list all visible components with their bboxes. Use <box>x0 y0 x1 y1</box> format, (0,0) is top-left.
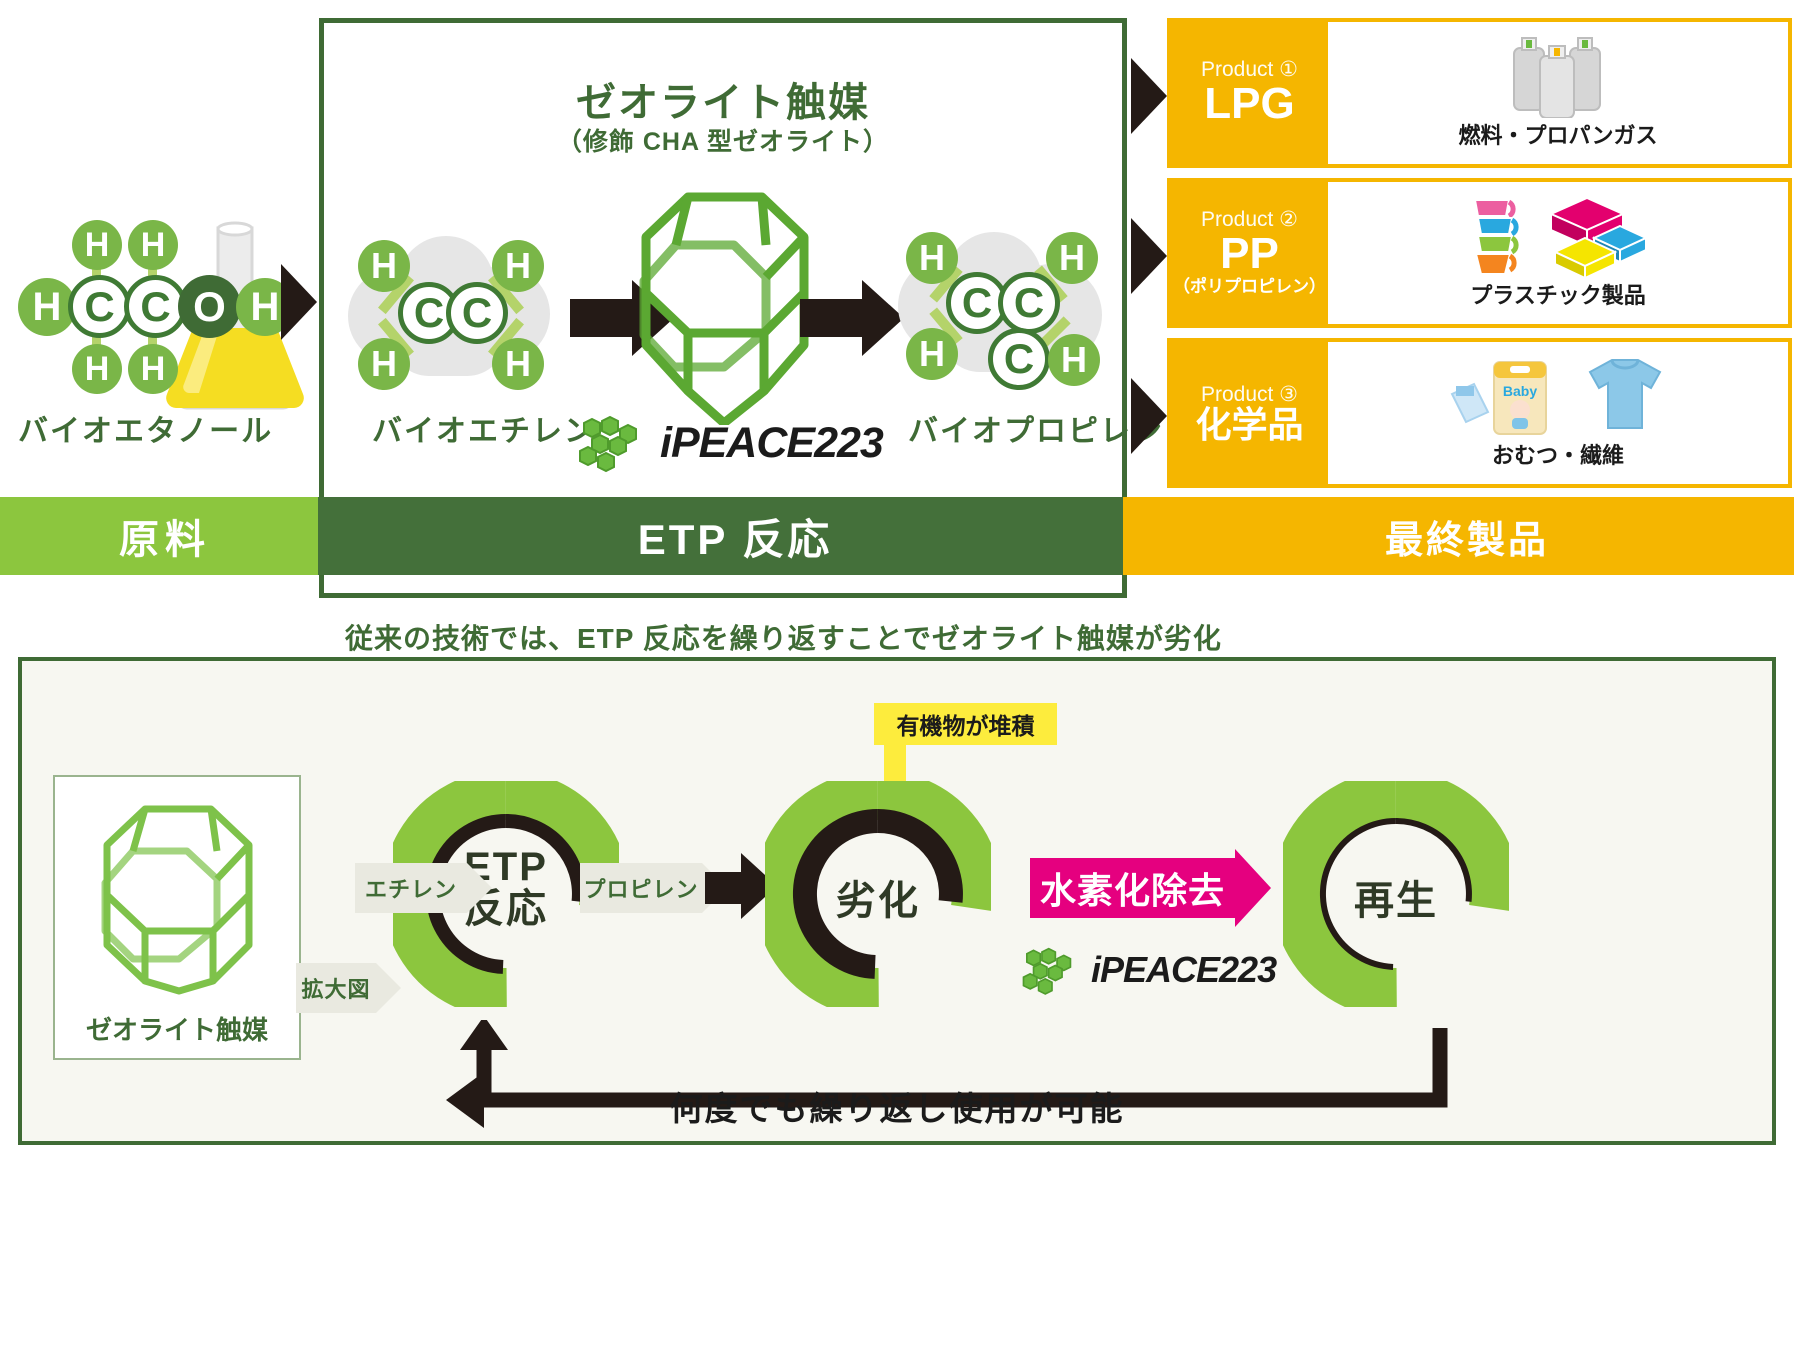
recycle-loop-label: 何度でも繰り返し使用が可能 <box>0 1082 1794 1130</box>
banner-raw-material: 原料 <box>0 497 330 575</box>
atom-h: H <box>358 240 410 292</box>
banner-etp-reaction: ETP 反応 <box>330 497 1140 575</box>
product-caption: おむつ・繊維 <box>1492 438 1624 470</box>
product-tag: Product ① <box>1201 58 1298 81</box>
ipeace-logo-bottom: iPEACE223 <box>1021 947 1271 997</box>
ipeace-logo-top: iPEACE223 <box>578 415 878 475</box>
product-label-block: Product ② PP （ポリプロピレン） <box>1171 182 1328 324</box>
propylene-tag-arrow: プロピレン <box>580 863 702 913</box>
atom-h: H <box>128 344 178 394</box>
atom-h: H <box>906 328 958 380</box>
atom-h: H <box>1048 334 1100 386</box>
atom-c: C <box>68 275 131 338</box>
degradation-caption: 従来の技術では、ETP 反応を繰り返すことでゼオライト触媒が劣化 <box>345 617 1222 657</box>
propylene-tag-label: プロピレン <box>583 872 698 904</box>
zoom-tag-arrow: 拡大図 <box>296 963 376 1013</box>
atom-h: H <box>492 240 544 292</box>
product-chevron-icon <box>1131 58 1167 134</box>
atom-h: H <box>906 232 958 284</box>
atom-c: C <box>446 282 508 344</box>
cycle-label-degradation: 劣化 <box>808 868 948 926</box>
product-caption: 燃料・プロパンガス <box>1458 118 1657 150</box>
bioethylene-label: バイオエチレン <box>372 406 596 450</box>
atom-o: O <box>178 275 241 338</box>
zoom-tag-label: 拡大図 <box>301 972 370 1004</box>
plastic-cups-and-bricks-icon <box>1461 196 1655 278</box>
atom-h: H <box>72 220 122 270</box>
product-card[interactable]: Product ③ 化学品 Baby おむつ・繊維 <box>1167 338 1792 488</box>
atom-c: C <box>998 272 1060 334</box>
stage-banner: 原料 ETP 反応 最終製品 <box>0 497 1794 575</box>
product-tag: Product ② <box>1201 208 1298 231</box>
product-name: LPG <box>1204 81 1294 127</box>
atom-h: H <box>128 220 178 270</box>
atom-h: H <box>358 338 410 390</box>
reaction-arrow-2 <box>800 280 906 356</box>
atom-h: H <box>1046 232 1098 284</box>
product-chevron-icon <box>1131 378 1167 454</box>
ethylene-tag-label: エチレン <box>365 872 457 904</box>
product-card[interactable]: Product ② PP （ポリプロピレン） <box>1167 178 1792 328</box>
bioethanol-label: バイオエタノール <box>18 406 273 450</box>
product-name: PP <box>1220 231 1279 277</box>
ethylene-tag-arrow: エチレン <box>355 863 467 913</box>
etp-title: ゼオライト触媒 <box>319 70 1127 128</box>
bioethylene-molecule: H H H H C C <box>346 230 556 390</box>
product-illustration-block: プラスチック製品 <box>1328 182 1788 324</box>
biopropylene-label: バイオプロピレン <box>908 406 1164 450</box>
accumulation-note: 有機物が堆積 <box>874 703 1057 745</box>
product-illustration-block: 燃料・プロパンガス <box>1328 22 1788 164</box>
cycle-label-regeneration: 再生 <box>1326 868 1466 926</box>
product-chevron-icon <box>1131 218 1167 294</box>
ipeace-wordmark: iPEACE223 <box>660 419 883 468</box>
product-label-block: Product ③ 化学品 <box>1171 342 1328 484</box>
hydrogenation-label: 水素化除去 <box>1040 862 1225 914</box>
ipeace-wordmark: iPEACE223 <box>1091 949 1276 991</box>
zeolite-card-label: ゼオライト触媒 <box>53 1010 301 1047</box>
biopropylene-molecule: H H C C H C H <box>896 228 1104 398</box>
svg-text:Baby: Baby <box>1503 383 1537 399</box>
ipeace-hexagons-icon <box>1021 947 1083 999</box>
product-card[interactable]: Product ① LPG 燃料・プロパンガス <box>1167 18 1792 168</box>
hydrogenation-arrow[interactable]: 水素化除去 <box>1030 858 1235 918</box>
product-label-block: Product ① LPG <box>1171 22 1328 164</box>
flow-chevron-icon <box>281 264 317 340</box>
ipeace-hexagons-icon <box>578 415 650 477</box>
diaper-and-shirt-icon: Baby <box>1448 356 1668 438</box>
atom-c: C <box>988 328 1050 390</box>
product-illustration-block: Baby おむつ・繊維 <box>1328 342 1788 484</box>
banner-final-product: 最終製品 <box>1140 497 1794 575</box>
etp-subtitle: （修飾 CHA 型ゼオライト） <box>319 122 1127 158</box>
product-tag: Product ③ <box>1201 383 1298 406</box>
atom-h: H <box>492 338 544 390</box>
gas-cylinders-icon <box>1498 36 1618 118</box>
bioethanol-molecule: H H H C C O H H H <box>10 220 300 410</box>
product-caption: プラスチック製品 <box>1470 278 1646 310</box>
atom-h: H <box>72 344 122 394</box>
zeolite-cage-icon <box>77 799 281 999</box>
product-name: 化学品 <box>1195 406 1303 444</box>
product-subname: （ポリプロピレン） <box>1173 277 1326 297</box>
